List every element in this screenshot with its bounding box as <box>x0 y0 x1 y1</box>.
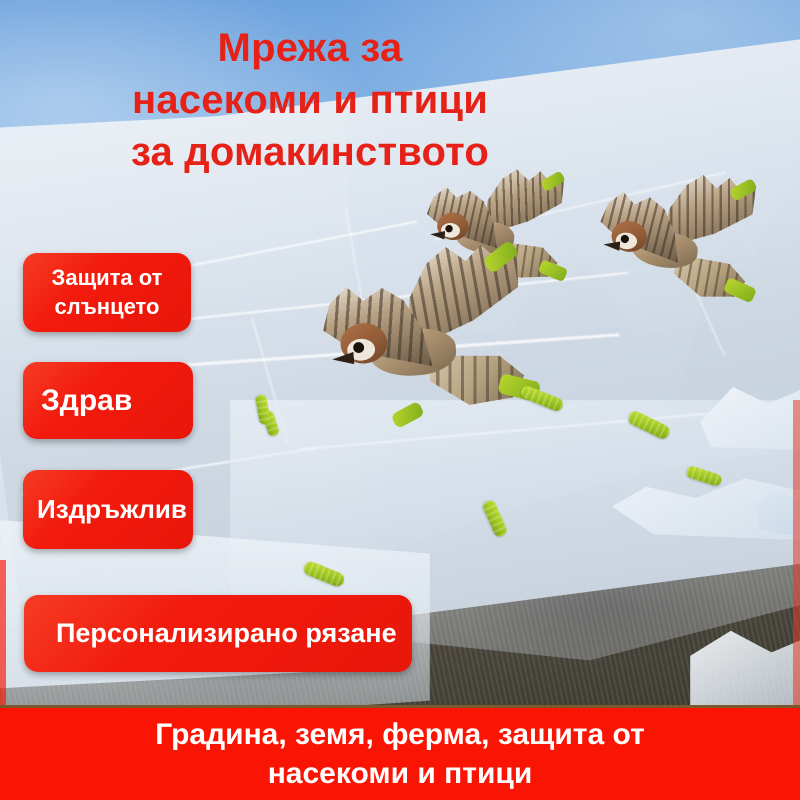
badge-line-1: Защита от <box>52 265 163 290</box>
feature-badge-sun-protection[interactable]: Защита от слънцето <box>23 253 191 332</box>
product-banner: Мрежа за насекоми и птици за домакинство… <box>0 0 800 800</box>
feature-badge-label: Здрав <box>41 384 132 418</box>
title-line-2: насекоми и птици <box>0 74 620 126</box>
feature-badge-durable[interactable]: Издръжлив <box>23 470 193 549</box>
footer-line-2: насекоми и птици <box>155 754 645 793</box>
footer-banner: Градина, земя, ферма, защита от насекоми… <box>0 705 800 800</box>
right-red-edge <box>793 400 800 710</box>
page-title: Мрежа за насекоми и птици за домакинство… <box>0 22 620 178</box>
feature-badge-custom-cutting[interactable]: Персонализирано рязане <box>24 595 412 672</box>
title-line-3: за домакинството <box>0 126 620 178</box>
feature-badge-strong[interactable]: Здрав <box>23 362 193 439</box>
feature-badge-label: Защита от слънцето <box>52 264 163 320</box>
feature-badge-label: Персонализирано рязане <box>56 618 397 649</box>
footer-banner-text: Градина, земя, ферма, защита от насекоми… <box>155 715 645 793</box>
badge-line-2: слънцето <box>55 294 160 319</box>
left-red-edge <box>0 560 6 710</box>
title-line-1: Мрежа за <box>0 22 620 74</box>
feature-badge-label: Издръжлив <box>37 494 187 525</box>
footer-line-1: Градина, земя, ферма, защита от <box>155 715 645 754</box>
